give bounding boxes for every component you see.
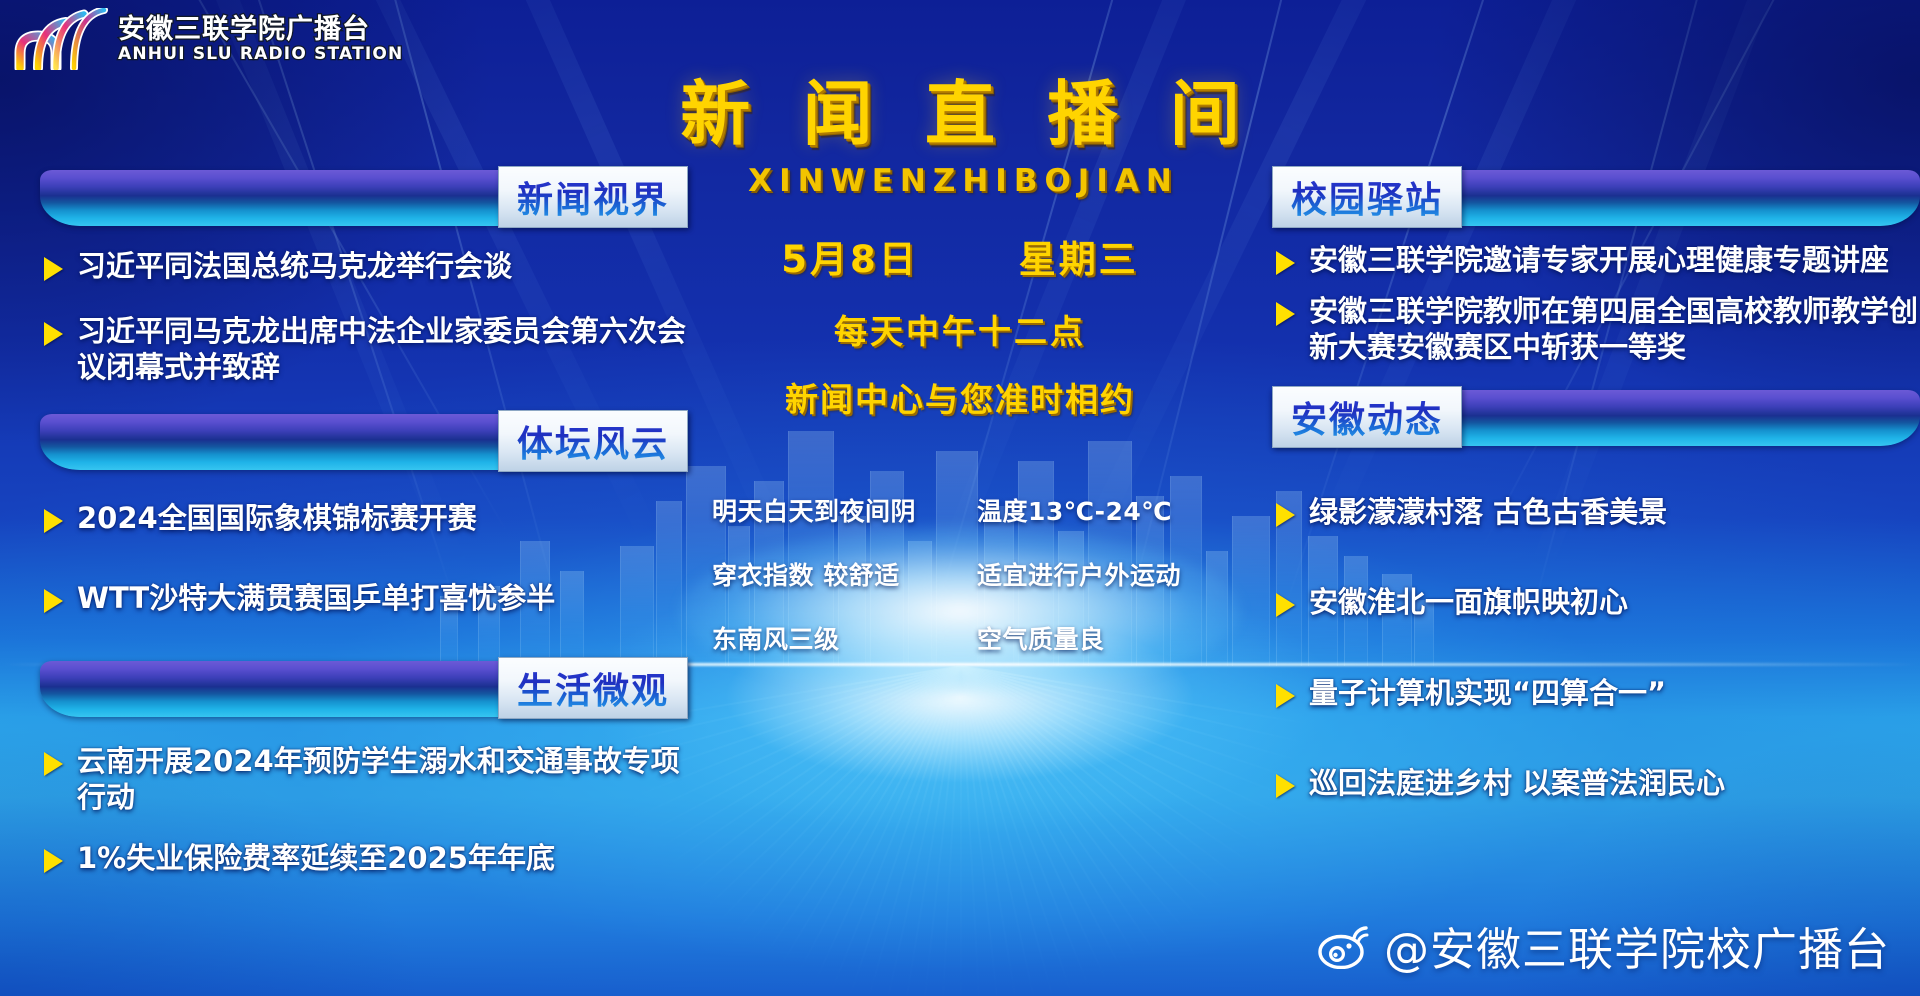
rainbow-arc-logo-icon (14, 8, 110, 70)
news-headline: 绿影濛濛村落 古色古香美景 (1309, 494, 1667, 531)
news-item[interactable]: 1%失业保险费率延续至2025年年底 (44, 840, 688, 877)
section-label-text: 新闻视界 (517, 171, 669, 223)
news-item[interactable]: 安徽三联学院邀请专家开展心理健康专题讲座 (1276, 242, 1920, 279)
section-label-text: 生活微观 (517, 662, 669, 714)
station-name-cn: 安徽三联学院广播台 (118, 16, 403, 43)
broadcast-airtime: 每天中午十二点 (620, 305, 1300, 353)
bullet-triangle-icon (44, 322, 63, 346)
broadcast-weekday: 星期三 (1019, 229, 1139, 283)
bullet-triangle-icon (1276, 251, 1295, 275)
section-label-text: 校园驿站 (1291, 171, 1443, 223)
news-item[interactable]: 量子计算机实现“四算合一” (1276, 675, 1920, 712)
news-list: 习近平同法国总统马克龙举行会谈习近平同马克龙出席中法企业家委员会第六次会议闭幕式… (40, 248, 688, 386)
section-header-3: 生活微观 (40, 661, 688, 717)
news-headline: 量子计算机实现“四算合一” (1309, 675, 1666, 712)
news-headline: 习近平同法国总统马克龙举行会谈 (77, 248, 512, 285)
broadcast-date: 5月8日 (781, 229, 919, 283)
weather-item: 空气质量良 (977, 620, 1272, 656)
news-item[interactable]: 2024全国国际象棋锦标赛开赛 (44, 500, 688, 537)
news-item[interactable]: 绿影濛濛村落 古色古香美景 (1276, 494, 1920, 531)
section-header-2: 体坛风云 (40, 414, 688, 470)
bullet-triangle-icon (1276, 684, 1295, 708)
weather-panel: 明天白天到夜间阴 温度13℃-24℃ 穿衣指数 较舒适 适宜进行户外运动 东南风… (712, 492, 1272, 656)
news-item[interactable]: WTT沙特大满贯赛国乒单打喜忧参半 (44, 580, 688, 617)
news-headline: WTT沙特大满贯赛国乒单打喜忧参半 (77, 580, 555, 617)
news-headline: 安徽三联学院邀请专家开展心理健康专题讲座 (1309, 242, 1889, 279)
news-item[interactable]: 习近平同法国总统马克龙举行会谈 (44, 248, 688, 285)
station-name-en: ANHUI SLU RADIO STATION (118, 46, 403, 63)
news-headline: 安徽三联学院教师在第四届全国高校教师教学创新大赛安徽赛区中斩获一等奖 (1309, 293, 1920, 366)
news-item[interactable]: 安徽淮北一面旗帜映初心 (1276, 584, 1920, 621)
news-headline: 安徽淮北一面旗帜映初心 (1309, 584, 1628, 621)
bullet-triangle-icon (44, 752, 63, 776)
section-header-2: 安徽动态 (1272, 390, 1920, 446)
news-list: 云南开展2024年预防学生溺水和交通事故专项行动1%失业保险费率延续至2025年… (40, 743, 688, 877)
news-headline: 云南开展2024年预防学生溺水和交通事故专项行动 (77, 743, 688, 816)
bullet-triangle-icon (44, 589, 63, 613)
weather-item: 明天白天到夜间阴 (712, 492, 977, 528)
news-list: 绿影濛濛村落 古色古香美景安徽淮北一面旗帜映初心量子计算机实现“四算合一”巡回法… (1272, 494, 1920, 802)
page-title: 新 闻 直 播 间 (620, 58, 1300, 159)
bullet-triangle-icon (44, 509, 63, 533)
bullet-triangle-icon (44, 257, 63, 281)
bullet-triangle-icon (1276, 774, 1295, 798)
news-headline: 1%失业保险费率延续至2025年年底 (77, 840, 555, 877)
section-label-text: 体坛风云 (517, 415, 669, 467)
bullet-triangle-icon (1276, 593, 1295, 617)
bullet-triangle-icon (1276, 503, 1295, 527)
section-label-box[interactable]: 新闻视界 (498, 166, 688, 228)
section-label-box[interactable]: 校园驿站 (1272, 166, 1462, 228)
bullet-triangle-icon (44, 849, 63, 873)
section-header-1: 校园驿站 (1272, 170, 1920, 226)
section-label-text: 安徽动态 (1291, 391, 1443, 443)
left-column: 新闻视界习近平同法国总统马克龙举行会谈习近平同马克龙出席中法企业家委员会第六次会… (40, 0, 688, 900)
page-title-pinyin: XINWENZHIBOJIAN (620, 163, 1300, 199)
news-item[interactable]: 巡回法庭进乡村 以案普法润民心 (1276, 765, 1920, 802)
news-headline: 2024全国国际象棋锦标赛开赛 (77, 500, 477, 537)
bullet-triangle-icon (1276, 302, 1295, 326)
news-headline: 习近平同马克龙出席中法企业家委员会第六次会议闭幕式并致辞 (77, 313, 688, 386)
weather-item: 东南风三级 (712, 620, 977, 656)
station-logo: 安徽三联学院广播台 ANHUI SLU RADIO STATION (14, 8, 403, 70)
dateline: 5月8日 星期三 (620, 229, 1300, 283)
weather-item: 温度13℃-24℃ (977, 492, 1272, 528)
weibo-watermark: @安徽三联学院校广播台 (1318, 913, 1890, 978)
section-label-box[interactable]: 生活微观 (498, 657, 688, 719)
news-item[interactable]: 云南开展2024年预防学生溺水和交通事故专项行动 (44, 743, 688, 816)
news-headline: 巡回法庭进乡村 以案普法润民心 (1309, 765, 1725, 802)
news-item[interactable]: 习近平同马克龙出席中法企业家委员会第六次会议闭幕式并致辞 (44, 313, 688, 386)
section-header-1: 新闻视界 (40, 170, 688, 226)
weather-item: 适宜进行户外运动 (977, 556, 1272, 592)
center-header: 新 闻 直 播 间 XINWENZHIBOJIAN 5月8日 星期三 每天中午十… (620, 0, 1300, 421)
broadcast-tagline: 新闻中心与您准时相约 (620, 373, 1300, 421)
weibo-handle: @安徽三联学院校广播台 (1384, 913, 1890, 978)
weibo-icon (1318, 923, 1374, 969)
news-item[interactable]: 安徽三联学院教师在第四届全国高校教师教学创新大赛安徽赛区中斩获一等奖 (1276, 293, 1920, 366)
news-list: 2024全国国际象棋锦标赛开赛WTT沙特大满贯赛国乒单打喜忧参半 (40, 500, 688, 617)
news-list: 安徽三联学院邀请专家开展心理健康专题讲座安徽三联学院教师在第四届全国高校教师教学… (1272, 242, 1920, 366)
weather-item: 穿衣指数 较舒适 (712, 556, 977, 592)
section-label-box[interactable]: 安徽动态 (1272, 386, 1462, 448)
right-column: 校园驿站安徽三联学院邀请专家开展心理健康专题讲座安徽三联学院教师在第四届全国高校… (1272, 0, 1920, 856)
section-label-box[interactable]: 体坛风云 (498, 410, 688, 472)
